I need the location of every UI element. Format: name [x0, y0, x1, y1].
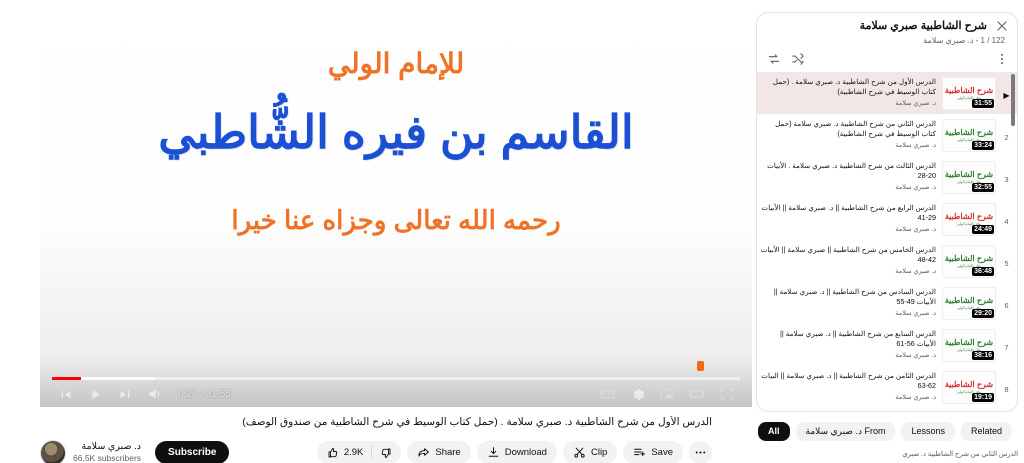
playlist-items-list: ▶ شرح الشاطبية بجان الإمام الولي 31:55 ا… [757, 72, 1017, 410]
dislike-button[interactable] [371, 441, 401, 463]
list-item-channel: د. صبري سلامة [759, 141, 936, 149]
playlist-scrollbar[interactable] [1011, 74, 1015, 126]
loop-icon[interactable] [767, 52, 781, 66]
list-item-thumbnail: شرح الشاطبية بجان الإمام الولي 38:16 [942, 329, 996, 362]
chip-related[interactable]: Related [961, 422, 1012, 441]
list-item-thumbnail: شرح الشاطبية بجان الإمام الولي 31:55 [942, 77, 996, 110]
list-item-title: الدرس الثاني من شرح الشاطبية د. صبري سلا… [759, 119, 936, 138]
list-item-meta: الدرس الأول من شرح الشاطبية د. صبري سلام… [759, 75, 938, 106]
list-item[interactable]: 3 شرح الشاطبية بجان الإمام الولي 32:55 ا… [757, 156, 1017, 198]
list-item-duration: 33:24 [972, 141, 994, 150]
thumbnail-title: شرح الشاطبية [945, 255, 993, 263]
list-item-channel: د. صبري سلامة [759, 183, 936, 191]
miniplayer-icon[interactable] [652, 381, 682, 407]
subscriber-count: 66.5K subscribers [73, 453, 141, 463]
thumbnail-title: شرح الشاطبية [945, 297, 993, 305]
list-item-thumbnail: شرح الشاطبية بجان الإمام الولي 29:20 [942, 287, 996, 320]
thumbnail-title: شرح الشاطبية [945, 129, 993, 137]
channel-info[interactable]: د. صبري سلامة 66.5K subscribers [73, 441, 141, 463]
video-player[interactable]: للإمام الولي القاسم بن فيره الشُّاطبي رح… [40, 5, 752, 407]
list-item-index: 4 [1000, 201, 1013, 226]
chip-lessons[interactable]: Lessons [901, 422, 955, 441]
save-button[interactable]: Save [623, 441, 683, 463]
list-item-channel: د. صبري سلامة [759, 351, 936, 359]
next-video-button[interactable] [110, 381, 140, 407]
list-item-duration: 38:16 [972, 351, 994, 360]
control-bar-right [592, 381, 742, 407]
video-meta-row: د. صبري سلامة 66.5K subscribers Subscrib… [40, 437, 712, 463]
list-item-thumbnail: شرح الشاطبية بجان الإمام الولي 24:49 [942, 203, 996, 236]
playlist-panel: شرح الشاطبية صبري سلامة 122 / 1 - د. صبر… [756, 12, 1018, 412]
share-button[interactable]: Share [407, 441, 470, 463]
secondary-column: شرح الشاطبية صبري سلامة 122 / 1 - د. صبر… [752, 0, 1024, 463]
list-item-meta: الدرس الثالث من شرح الشاطبية د. صبري سلا… [759, 159, 938, 190]
settings-gear-icon[interactable] [622, 381, 652, 407]
like-count: 2.9K [344, 447, 364, 458]
thumbnail-title: شرح الشاطبية [945, 381, 993, 389]
like-button[interactable]: 2.9K [317, 441, 372, 463]
more-actions-button[interactable] [689, 441, 712, 463]
avatar[interactable] [40, 440, 66, 463]
primary-column: للإمام الولي القاسم بن فيره الشُّاطبي رح… [0, 0, 752, 463]
list-item-duration: 19:19 [972, 393, 994, 402]
list-item-index: 7 [1000, 327, 1013, 352]
play-button[interactable] [80, 381, 110, 407]
player-controls-overlay: 0:28 / 31:55 [40, 355, 752, 407]
volume-button[interactable] [140, 381, 170, 407]
list-item-index: 6 [1000, 285, 1013, 310]
action-buttons: 2.9K Share Download [317, 441, 712, 463]
page-title: الدرس الأول من شرح الشاطبية د. صبري سلام… [40, 416, 712, 430]
theater-mode-icon[interactable] [682, 381, 712, 407]
clip-label: Clip [591, 447, 607, 458]
list-item-meta: الدرس الخامس من شرح الشاطبية || صبري سلا… [759, 243, 938, 274]
list-item-meta: الدرس السابع من شرح الشاطبية || د. صبري … [759, 327, 938, 358]
fullscreen-icon[interactable] [712, 381, 742, 407]
list-item-title: الدرس الأول من شرح الشاطبية د. صبري سلام… [759, 77, 936, 96]
chip-all[interactable]: All [758, 422, 790, 441]
list-item-meta: الدرس الثاني من شرح الشاطبية د. صبري سلا… [759, 117, 938, 148]
subscribe-button[interactable]: Subscribe [155, 441, 229, 463]
control-bar: 0:28 / 31:55 [40, 381, 752, 407]
list-item-meta: الدرس الثامن من شرح الشاطبية || د. صبري … [759, 369, 938, 400]
youtube-watch-page: للإمام الولي القاسم بن فيره الشُّاطبي رح… [0, 0, 1024, 463]
download-button[interactable]: Download [477, 441, 557, 463]
thumbnail-title: شرح الشاطبية [945, 339, 993, 347]
share-label: Share [435, 447, 460, 458]
channel-name[interactable]: د. صبري سلامة [73, 441, 141, 453]
list-item-title: الدرس الثالث من شرح الشاطبية د. صبري سلا… [759, 161, 936, 180]
list-item-duration: 31:55 [972, 99, 994, 108]
list-item-channel: د. صبري سلامة [759, 267, 936, 275]
list-item-channel: د. صبري سلامة [759, 393, 936, 401]
progress-bar[interactable] [52, 377, 740, 380]
list-item[interactable]: ▶ شرح الشاطبية بجان الإمام الولي 31:55 ا… [757, 72, 1017, 114]
video-overlay-line-2: القاسم بن فيره الشُّاطبي [158, 106, 633, 159]
progress-played [52, 377, 81, 380]
save-label: Save [651, 447, 673, 458]
thumbnail-title: شرح الشاطبية [945, 213, 993, 221]
list-item-channel: د. صبري سلامة [759, 309, 936, 317]
chevron-right-icon[interactable] [1018, 424, 1024, 440]
filter-chips-row: All From د. صبري سلامة Lessons Related [758, 422, 1020, 441]
list-item-thumbnail: شرح الشاطبية بجان الإمام الولي 36:48 [942, 245, 996, 278]
list-item-title: الدرس الخامس من شرح الشاطبية || صبري سلا… [759, 245, 936, 264]
list-item[interactable]: 5 شرح الشاطبية بجان الإمام الولي 36:48 ا… [757, 240, 1017, 282]
list-item-meta: الدرس الرابع من شرح الشاطبية || د. صبري … [759, 201, 938, 232]
list-item-index: 5 [1000, 243, 1013, 268]
list-item-thumbnail: شرح الشاطبية بجان الإمام الولي 33:24 [942, 119, 996, 152]
list-item-duration: 32:55 [972, 183, 994, 192]
playlist-controls-row [757, 50, 1017, 72]
playlist-subtitle: 122 / 1 - د. صبري سلامة [767, 36, 1007, 45]
clip-button[interactable]: Clip [563, 441, 617, 463]
list-item-channel: د. صبري سلامة [759, 225, 936, 233]
video-overlay-line-3: رحمه الله تعالى وجزاه عنا خيرا [231, 205, 560, 236]
close-icon[interactable] [995, 19, 1009, 33]
list-item-channel: د. صبري سلامة [759, 99, 936, 107]
list-item-title: الدرس الرابع من شرح الشاطبية || د. صبري … [759, 203, 936, 222]
video-overlay-line-1: للإمام الولي [328, 49, 465, 80]
previous-video-button[interactable] [50, 381, 80, 407]
list-item-duration: 24:49 [972, 225, 994, 234]
list-item-thumbnail: شرح الشاطبية بجان الإمام الولي 32:55 [942, 161, 996, 194]
list-item-thumbnail: شرح الشاطبية بجان الإمام الولي 19:19 [942, 371, 996, 404]
thumbnail-title: شرح الشاطبية [945, 171, 993, 179]
list-item-index: 8 [1000, 369, 1013, 394]
chip-from-channel[interactable]: From د. صبري سلامة [796, 422, 896, 441]
next-suggestion-title: الدرس الثاني من شرح الشاطبية د. صبري [768, 450, 1018, 458]
list-item[interactable]: 6 شرح الشاطبية بجان الإمام الولي 29:20 ا… [757, 282, 1017, 324]
download-label: Download [505, 447, 547, 458]
list-item-title: الدرس الثامن من شرح الشاطبية || د. صبري … [759, 371, 936, 390]
list-item-duration: 36:48 [972, 267, 994, 276]
list-item[interactable]: 4 شرح الشاطبية بجان الإمام الولي 24:49 ا… [757, 198, 1017, 240]
shuffle-icon[interactable] [791, 52, 805, 66]
list-item-title: الدرس السابع من شرح الشاطبية || د. صبري … [759, 329, 936, 348]
time-display: 0:28 / 31:55 [178, 389, 231, 400]
playlist-title: شرح الشاطبية صبري سلامة [767, 20, 1007, 33]
video-frame: للإمام الولي القاسم بن فيره الشُّاطبي رح… [40, 5, 752, 407]
list-item[interactable]: 2 شرح الشاطبية بجان الإمام الولي 33:24 ا… [757, 114, 1017, 156]
control-bar-left: 0:28 / 31:55 [50, 381, 231, 407]
captions-icon[interactable] [592, 381, 622, 407]
list-item-title: الدرس السادس من شرح الشاطبية || د. صبري … [759, 287, 936, 306]
list-item-meta: الدرس السادس من شرح الشاطبية || د. صبري … [759, 285, 938, 316]
list-item[interactable]: 9 شرح الشاطبية بجان الإمام الولي 31:59 ا… [757, 408, 1017, 410]
list-item[interactable]: 7 شرح الشاطبية بجان الإمام الولي 38:16 ا… [757, 324, 1017, 366]
list-item-index: 3 [1000, 159, 1013, 184]
chapter-marker-icon[interactable] [697, 361, 704, 371]
playlist-more-icon[interactable] [995, 52, 1009, 66]
list-item-duration: 29:20 [972, 309, 994, 318]
thumbnail-title: شرح الشاطبية [945, 87, 993, 95]
list-item[interactable]: 8 شرح الشاطبية بجان الإمام الولي 19:19 ا… [757, 366, 1017, 408]
playlist-header: شرح الشاطبية صبري سلامة 122 / 1 - د. صبر… [757, 13, 1017, 50]
